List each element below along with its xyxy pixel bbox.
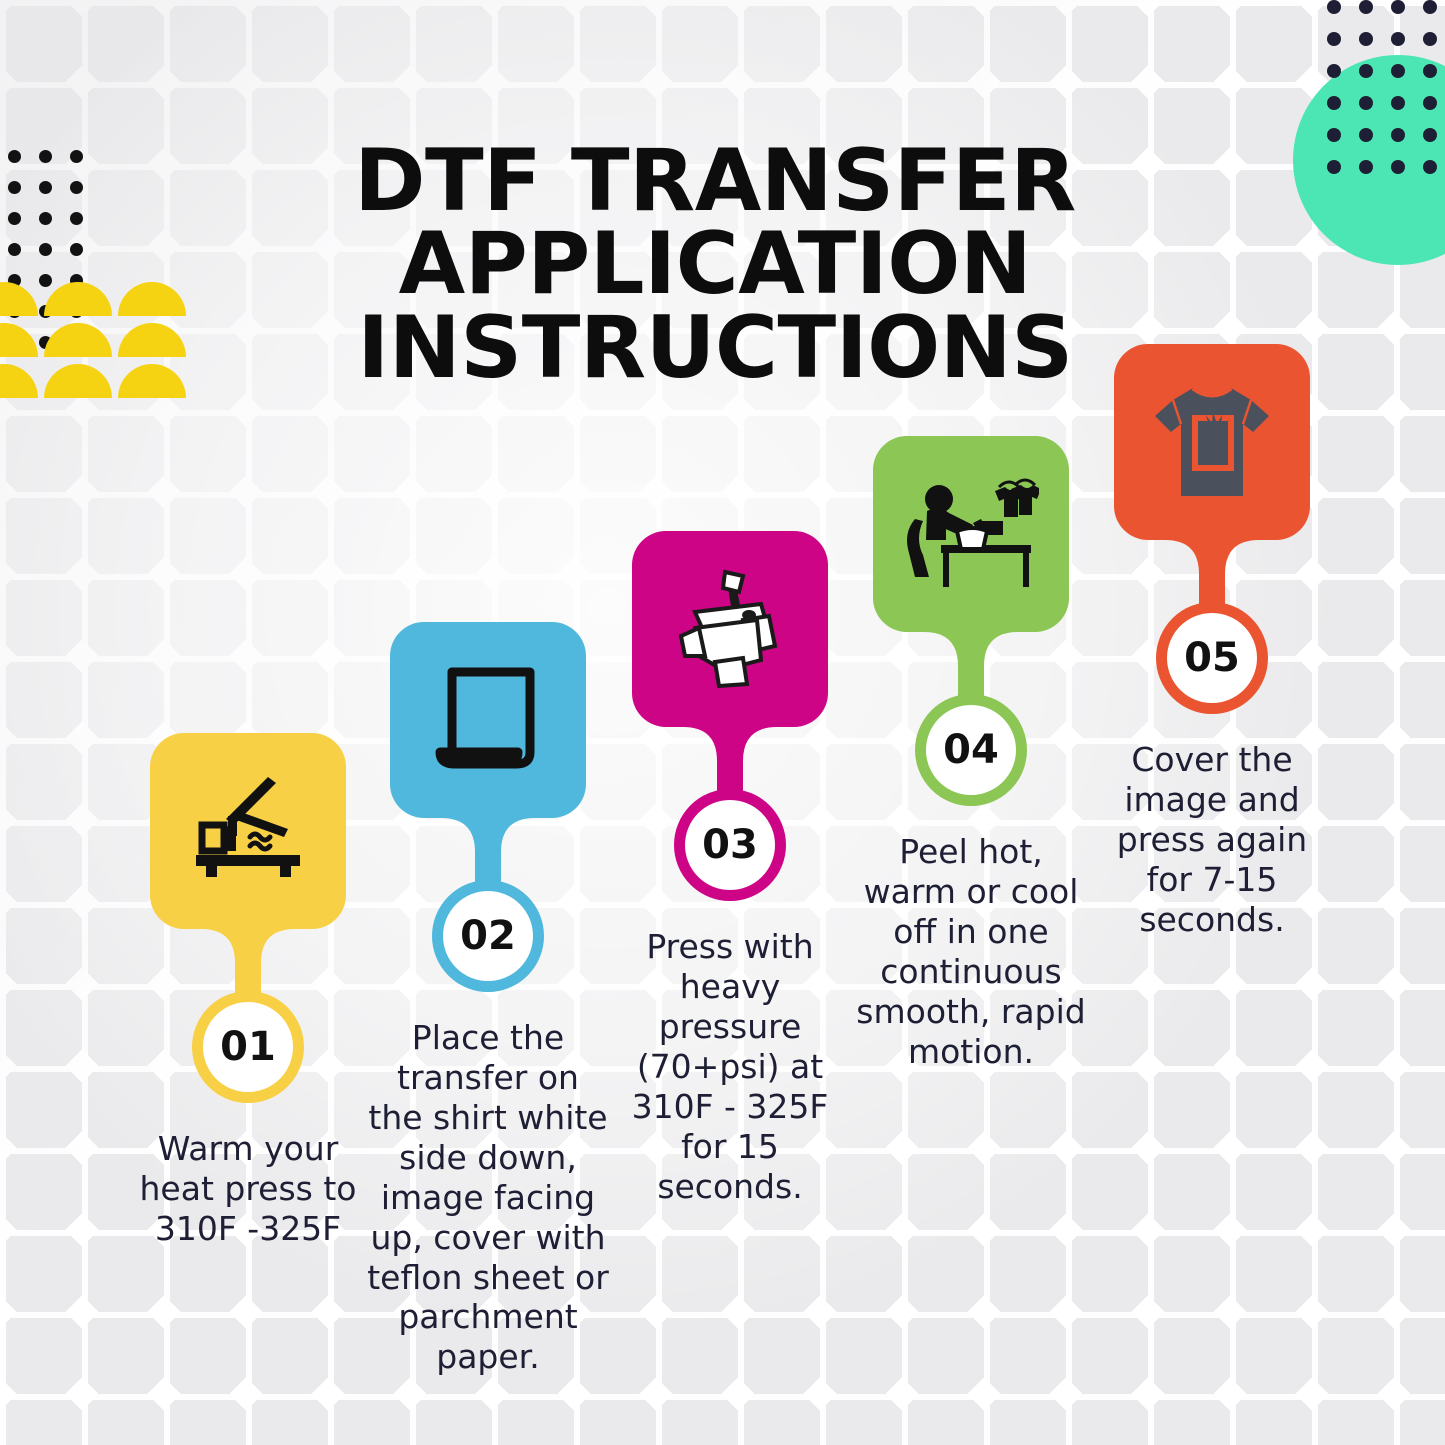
decorative-dot	[1327, 0, 1341, 14]
decorative-dot	[1423, 64, 1437, 78]
decorative-dot	[1327, 96, 1341, 110]
step-03-icon-card: 03	[632, 531, 828, 727]
yellow-dome	[0, 323, 38, 357]
decorative-dot	[1359, 160, 1373, 174]
step-01-number-badge: 01	[192, 991, 304, 1103]
step-05: 05 Cover the image and press again for 7…	[1086, 344, 1338, 940]
step-05-description: Cover the image and press again for 7-15…	[1086, 740, 1338, 940]
decorative-dot	[1359, 128, 1373, 142]
decorative-dot	[70, 150, 83, 163]
step-01-icon-card: 01	[150, 733, 346, 929]
decorative-dot	[1423, 32, 1437, 46]
decorative-dot	[1391, 160, 1405, 174]
step-04-number: 04	[943, 727, 999, 773]
transfer-sheet-icon	[426, 658, 550, 782]
decorative-dot	[70, 243, 83, 256]
yellow-dome	[0, 364, 38, 398]
dot-grid-top-right	[1327, 0, 1437, 174]
decorative-dot	[1327, 128, 1341, 142]
step-04-description: Peel hot, warm or cool off in one contin…	[845, 832, 1097, 1072]
decorative-dot	[39, 150, 52, 163]
step-02-number: 02	[460, 913, 516, 959]
printed-tshirt-icon	[1147, 380, 1277, 504]
step-04-icon-card: 04	[873, 436, 1069, 632]
decorative-dot	[8, 212, 21, 225]
step-02-description: Place the transfer on the shirt white si…	[362, 1018, 614, 1377]
yellow-dome	[0, 282, 38, 316]
decorative-dot	[1359, 0, 1373, 14]
step-03-number-badge: 03	[674, 789, 786, 901]
person-peeling-transfer-icon	[903, 473, 1039, 595]
heat-press-open-icon	[184, 767, 312, 895]
decorative-dot	[70, 181, 83, 194]
decorative-dot	[8, 150, 21, 163]
step-03-description: Press with heavy pressure (70+psi) at 31…	[604, 927, 856, 1206]
decorative-dot	[1327, 160, 1341, 174]
page-title-line-1: DTF TRANSFER APPLICATION	[354, 131, 1076, 314]
step-02-number-badge: 02	[432, 880, 544, 992]
step-01-number: 01	[220, 1024, 276, 1070]
decorative-dot	[1391, 32, 1405, 46]
decorative-dot	[1391, 64, 1405, 78]
step-05-number: 05	[1184, 635, 1240, 681]
step-02-icon-card: 02	[390, 622, 586, 818]
decorative-dot	[70, 212, 83, 225]
decorative-dot	[1327, 64, 1341, 78]
decorative-dot	[1359, 64, 1373, 78]
yellow-dome	[44, 323, 112, 357]
infographic-poster: DTF TRANSFER APPLICATION INSTRUCTIONS	[0, 0, 1445, 1445]
decorative-dot	[1391, 0, 1405, 14]
step-04-number-badge: 04	[915, 694, 1027, 806]
decorative-dot	[39, 243, 52, 256]
decorative-dot	[1423, 0, 1437, 14]
step-05-icon-card: 05	[1114, 344, 1310, 540]
decorative-dot	[39, 212, 52, 225]
step-04: 04 Peel hot, warm or cool off in one con…	[845, 436, 1097, 1072]
step-01-description: Warm your heat press to 310F -325F	[122, 1129, 374, 1249]
step-03-number: 03	[702, 822, 758, 868]
decorative-dot	[1423, 96, 1437, 110]
decorative-dot	[1327, 32, 1341, 46]
heat-press-machine-icon	[665, 564, 795, 694]
step-02: 02 Place the transfer on the shirt white…	[362, 622, 614, 1377]
step-01: 01 Warm your heat press to 310F -325F	[122, 733, 374, 1249]
yellow-dome	[44, 364, 112, 398]
decorative-dot	[1391, 96, 1405, 110]
decorative-dot	[8, 243, 21, 256]
yellow-dome	[44, 282, 112, 316]
decorative-dot	[1423, 128, 1437, 142]
decorative-dot	[1359, 96, 1373, 110]
decorative-dot	[1423, 160, 1437, 174]
decorative-dot	[1359, 32, 1373, 46]
decorative-dot	[39, 181, 52, 194]
step-03: 03 Press with heavy pressure (70+psi) at…	[604, 531, 856, 1206]
decorative-dot	[1391, 128, 1405, 142]
decorative-dot	[8, 181, 21, 194]
step-05-number-badge: 05	[1156, 602, 1268, 714]
